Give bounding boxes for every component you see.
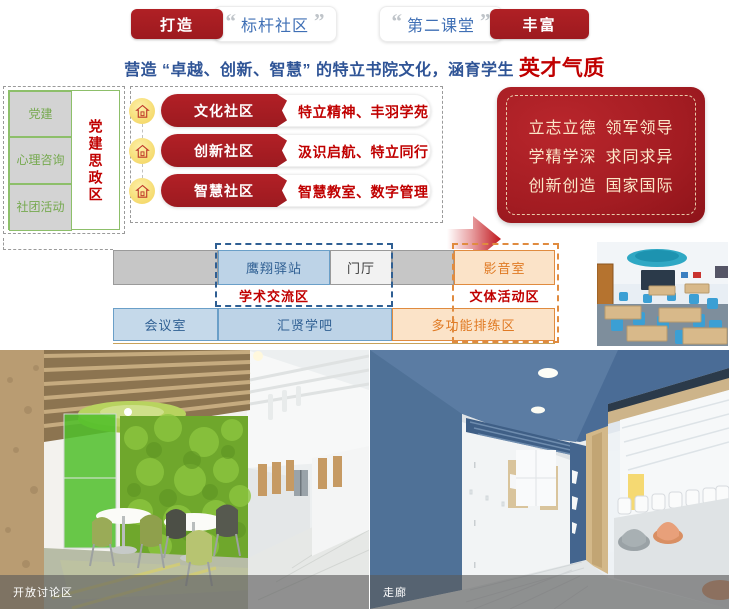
- photo-left-caption: 开放讨论区: [0, 575, 369, 609]
- sidebar-item-shetuan[interactable]: 社团活动: [9, 184, 72, 231]
- connector-dash-1: [142, 124, 143, 138]
- home-icon-3: [129, 178, 155, 204]
- sidebar-panel: 党建 心理咨询 社团活动 党建思政区: [8, 90, 120, 230]
- goal-row-0: 立志立德领军领导: [528, 114, 673, 138]
- middle-section: 党建 心理咨询 社团活动 党建思政区: [0, 85, 729, 240]
- badge-fengfu: 丰富: [490, 9, 589, 39]
- badge-dazao: 打造: [131, 9, 223, 39]
- sidebar-vertical-label: 党建思政区: [86, 119, 106, 204]
- goal-right-0: 领军领导: [606, 120, 674, 137]
- photo-right-caption: 走廊: [370, 575, 729, 609]
- quote-close-icon: ”: [314, 11, 325, 32]
- community-card-tag-2: 智慧社区: [161, 174, 287, 207]
- community-card-text-2: 智慧教室、数字管理: [298, 175, 429, 208]
- quote-open-icon: “: [225, 11, 236, 32]
- quote-chip-left: “ 标杆社区 ”: [213, 6, 337, 42]
- community-card-wisdom[interactable]: 智慧社区 智慧教室、数字管理: [161, 174, 431, 207]
- quote-chip-right: “ 第二课堂 ”: [379, 6, 503, 42]
- goal-row-2: 创新创造国家国际: [528, 172, 673, 196]
- home-icon: [129, 98, 155, 124]
- sidebar-item-label-0: 党建: [28, 107, 52, 122]
- sidebar-item-dangjian[interactable]: 党建: [9, 91, 72, 137]
- goal-right-2: 国家国际: [606, 178, 674, 195]
- subtitle-main: 营造 “卓越、创新、智慧” 的特立书院文化，涵育学生: [124, 62, 519, 79]
- zone-baseline: [113, 343, 555, 344]
- quote-close-icon-2: ”: [480, 11, 491, 32]
- sidebar-item-xinli[interactable]: 心理咨询: [9, 137, 72, 184]
- quote-open-icon-2: “: [391, 11, 402, 32]
- community-card-tag-1: 创新社区: [161, 134, 287, 167]
- goal-left-0: 立志立德: [528, 120, 596, 137]
- zone-highlight-academic: [215, 243, 393, 307]
- sidebar-item-label-1: 心理咨询: [16, 153, 64, 168]
- community-card-text-0: 特立精神、丰羽学苑: [298, 95, 429, 128]
- zone-gray-mid[interactable]: [392, 250, 454, 285]
- page-subtitle: 营造 “卓越、创新、智慧” 的特立书院文化，涵育学生 英才气质: [0, 52, 729, 82]
- community-card-culture[interactable]: 文化社区 特立精神、丰羽学苑: [161, 94, 431, 127]
- community-card-text-1: 汲识启航、特立同行: [298, 135, 429, 168]
- sidebar-item-label-2: 社团活动: [16, 200, 64, 215]
- slide-canvas: “ 标杆社区 ” 打造 “ 第二课堂 ” 丰富 营造 “卓越、创新、智慧” 的特…: [0, 0, 729, 609]
- goal-left-1: 学精学深: [528, 149, 596, 166]
- community-card-innovation[interactable]: 创新社区 汲识启航、特立同行: [161, 134, 431, 167]
- goals-inner-frame: 立志立德领军领导 学精学深求同求异 创新创造国家国际: [506, 95, 696, 215]
- connector-dash-2: [142, 164, 143, 178]
- zone-highlight-culture-sport: [452, 243, 559, 343]
- zone-huixian-label: 汇贤学吧: [277, 315, 333, 334]
- zone-outer-dash: [3, 238, 113, 250]
- quote-chip-left-label: 标杆社区: [241, 12, 309, 36]
- header-row: “ 标杆社区 ” 打造 “ 第二课堂 ” 丰富: [0, 2, 729, 44]
- home-icon-2: [129, 138, 155, 164]
- community-cards-frame: 文化社区 特立精神、丰羽学苑 创新社区 汲识启航、特立同行 智慧社区 智慧教室、…: [130, 86, 443, 223]
- photo-discussion-area: 开放讨论区: [0, 350, 369, 609]
- goal-left-2: 创新创造: [528, 178, 596, 195]
- zone-gray-left[interactable]: [113, 250, 218, 285]
- photo-corridor: 走廊: [370, 350, 729, 609]
- subtitle-highlight: 英才气质: [519, 57, 605, 80]
- zone-huiyishi[interactable]: 会议室: [113, 308, 218, 341]
- classroom-photo: [597, 242, 728, 346]
- goal-row-1: 学精学深求同求异: [528, 143, 673, 167]
- zone-huixian-xueba[interactable]: 汇贤学吧: [218, 308, 392, 341]
- zone-huiyishi-label: 会议室: [144, 315, 186, 334]
- goal-right-1: 求同求异: [606, 149, 674, 166]
- quote-chip-right-label: 第二课堂: [407, 12, 475, 36]
- goals-panel: 立志立德领军领导 学精学深求同求异 创新创造国家国际: [497, 87, 705, 223]
- sidebar-vertical-title: 党建思政区: [72, 91, 119, 231]
- community-card-tag-0: 文化社区: [161, 94, 287, 127]
